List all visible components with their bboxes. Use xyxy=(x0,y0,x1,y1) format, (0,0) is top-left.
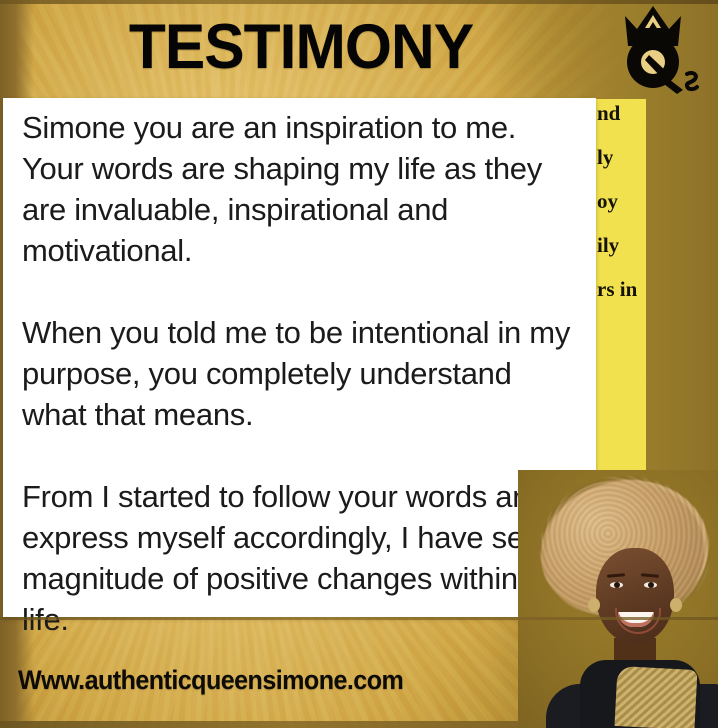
strip-fragment: ily xyxy=(597,233,619,258)
strip-fragment: nd xyxy=(597,101,620,126)
testimonial-text-block: Simone you are an inspiration to me. You… xyxy=(22,107,584,640)
strip-fragment: oy xyxy=(597,189,618,214)
footer-bar: Www.authenticqueensimone.com xyxy=(0,617,718,728)
crowned-q-logo-icon xyxy=(605,2,701,94)
strip-fragment: rs in xyxy=(597,277,637,302)
header: TESTIMONY xyxy=(0,0,718,98)
testimonial-paragraph: When you told me to be intentional in my… xyxy=(22,312,584,435)
person-pupil-left xyxy=(614,582,620,588)
page-title: TESTIMONY xyxy=(95,7,508,87)
website-url[interactable]: Www.authenticqueensimone.com xyxy=(18,665,403,696)
testimonial-paragraph: From I started to follow your words and … xyxy=(22,476,584,640)
testimonial-paragraph: Simone you are an inspiration to me. You… xyxy=(22,107,584,271)
testimonial-card: Simone you are an inspiration to me. You… xyxy=(3,98,596,617)
person-earring-left xyxy=(588,598,600,612)
testimony-poster: TESTIMONY nd ly oy ily rs in xyxy=(0,0,718,728)
strip-fragment: ly xyxy=(597,145,613,170)
background-yellow-strip: nd ly oy ily rs in xyxy=(595,99,646,495)
person-pupil-right xyxy=(648,582,654,588)
footer-top-divider xyxy=(0,617,718,620)
person-earring-right xyxy=(670,598,682,612)
